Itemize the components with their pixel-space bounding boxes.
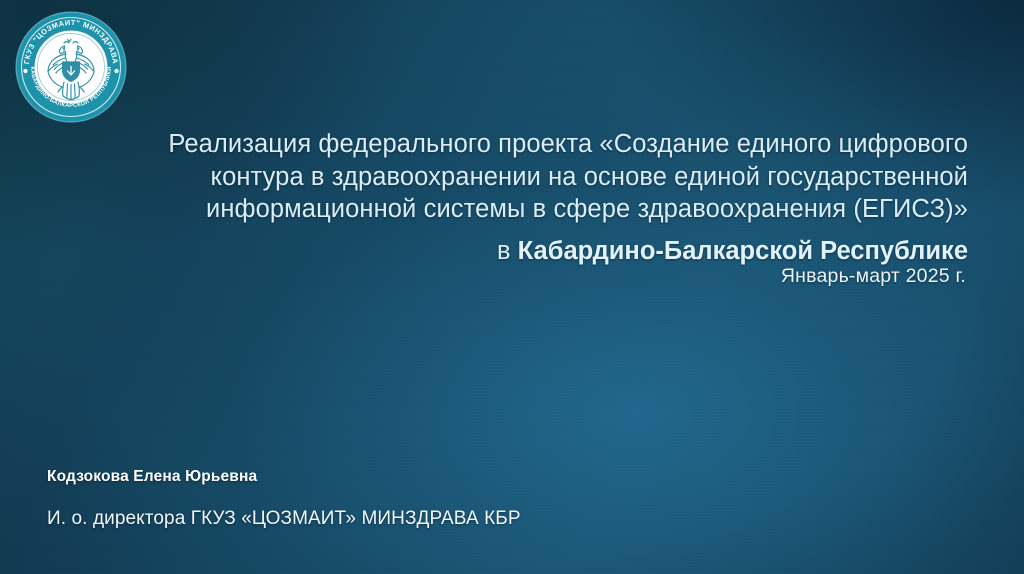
- organization-logo: ГКУЗ "ЦОЗМАИТ" МИНЗДРАВА КАБАРДИНО-БАЛКА…: [12, 8, 130, 126]
- title-line-3: информационной системы в сфере здравоохр…: [148, 193, 968, 226]
- emblem-icon: ГКУЗ "ЦОЗМАИТ" МИНЗДРАВА КАБАРДИНО-БАЛКА…: [12, 8, 130, 126]
- presenter-role: И. о. директора ГКУЗ «ЦОЗМАИТ» МИНЗДРАВА…: [47, 508, 521, 530]
- title-subject-prefix: в: [497, 237, 518, 265]
- presenter-name: Кодзокова Елена Юрьевна: [47, 468, 521, 486]
- title-subject-line: в Кабардино-Балкарской Республике: [148, 235, 968, 268]
- slide-date: Январь-март 2025 г.: [366, 265, 966, 288]
- title-line-1: Реализация федерального проекта «Создани…: [148, 128, 968, 161]
- slide-title-block: Реализация федерального проекта «Создани…: [148, 128, 968, 268]
- title-line-2: контура в здравоохранении на основе един…: [148, 161, 968, 194]
- title-subject-region: Кабардино-Балкарской Республике: [518, 237, 968, 265]
- presentation-title-slide: ГКУЗ "ЦОЗМАИТ" МИНЗДРАВА КАБАРДИНО-БАЛКА…: [0, 0, 1024, 574]
- presenter-block: Кодзокова Елена Юрьевна И. о. директора …: [47, 468, 521, 530]
